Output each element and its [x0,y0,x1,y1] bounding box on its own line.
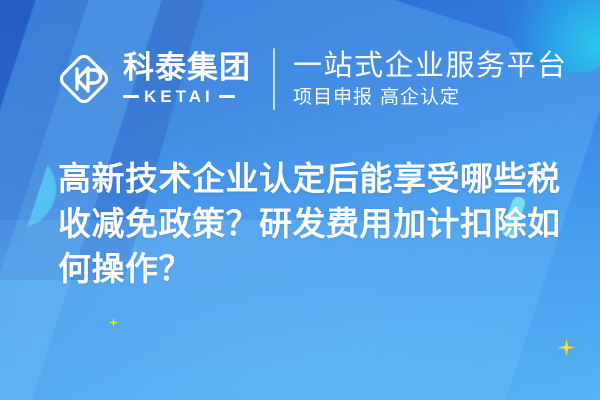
promo-banner: 科泰集团 KETAI 一站式企业服务平台 项目申报 高企认定 高新技术企业认定后… [0,0,600,400]
banner-header: 科泰集团 KETAI 一站式企业服务平台 项目申报 高企认定 [0,38,600,120]
tagline-main-text: 一站式企业服务平台 [293,49,568,81]
ketai-diamond-kp-mark-icon [55,50,113,108]
logo-chinese-name: 科泰集团 [123,53,251,85]
headline-line-2: 收减免政策？研发费用加计扣除如 [58,201,563,246]
logo-english-name: KETAI [144,88,214,105]
logo-wordmark: 科泰集团 KETAI [123,53,251,105]
logo-rule-left-icon [123,95,139,98]
headline-line-1: 高新技术企业认定后能享受哪些税 [58,156,563,201]
headline-line-3: 何操作？ [58,246,563,291]
page-title: 高新技术企业认定后能享受哪些税 收减免政策？研发费用加计扣除如 何操作？ [58,156,563,291]
logo-english-row: KETAI [123,88,251,105]
tagline-sub-text: 项目申报 高企认定 [293,86,568,109]
header-divider [273,48,275,110]
logo-rule-right-icon [219,95,235,98]
header-tagline: 一站式企业服务平台 项目申报 高企认定 [293,49,568,108]
